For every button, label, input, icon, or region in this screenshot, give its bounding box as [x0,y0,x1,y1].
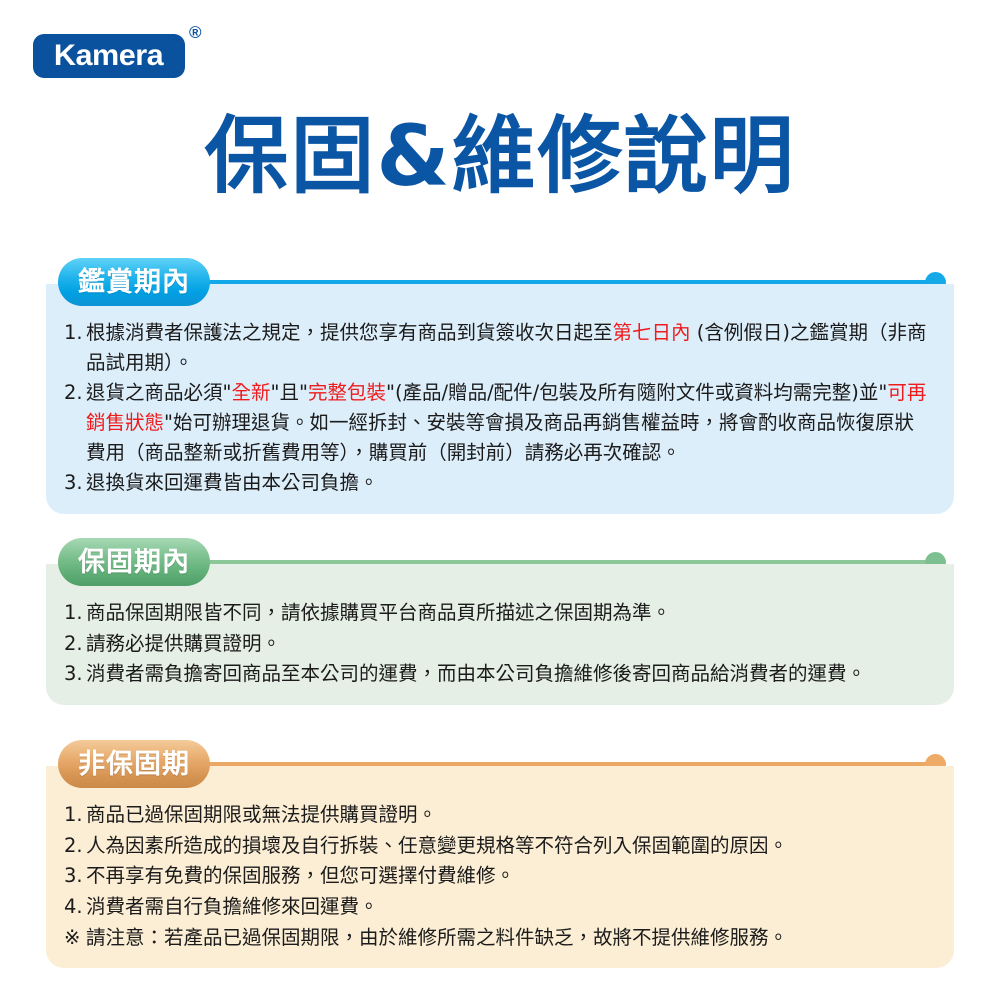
highlighted-text: 全新 [231,381,270,404]
highlighted-text: 完整包裝 [308,381,386,404]
list-item-text: 商品保固期限皆不同，請依據購買平台商品頁所描述之保固期為準。 [86,601,671,624]
section-inspection-period: 鑑賞期內 1.根據消費者保護法之規定，提供您享有商品到貨簽收次日起至第七日內 (… [46,258,954,514]
section-out-of-warranty: 非保固期 1.商品已過保固期限或無法提供購買證明。2.人為因素所造成的損壞及自行… [46,740,954,968]
section-body: 1.商品已過保固期限或無法提供購買證明。2.人為因素所造成的損壞及自行拆裝、任意… [46,766,954,968]
list-item: 1.商品已過保固期限或無法提供購買證明。 [64,800,928,830]
list-item-marker: 3. [64,861,86,891]
brand-logo: Kamera ® [33,24,253,84]
list-item: 3.退換貨來回運費皆由本公司負擔。 [64,468,928,498]
section-title-pill: 鑑賞期內 [58,258,210,306]
list-item-text: 請注意：若產品已過保固期限，由於維修所需之料件缺乏，故將不提供維修服務。 [86,926,788,949]
list-item-marker: 4. [64,892,86,922]
section-title-pill: 保固期內 [58,538,210,586]
list-item-marker: 2. [64,831,86,861]
list-item: 4.消費者需自行負擔維修來回運費。 [64,892,928,922]
list-item-marker: 1. [64,800,86,830]
section-body: 1.根據消費者保護法之規定，提供您享有商品到貨簽收次日起至第七日內 (含例假日)… [46,284,954,514]
list-item-marker: ※ [64,923,86,953]
list-item-text: 商品已過保固期限或無法提供購買證明。 [86,803,437,826]
list-item: 2.人為因素所造成的損壞及自行拆裝、任意變更規格等不符合列入保固範圍的原因。 [64,831,928,861]
list-item: ※請注意：若產品已過保固期限，由於維修所需之料件缺乏，故將不提供維修服務。 [64,923,928,953]
list-item-marker: 1. [64,598,86,628]
list-item-text: 根據消費者保護法之規定，提供您享有商品到貨簽收次日起至 [86,321,613,344]
list-item-text: 消費者需負擔寄回商品至本公司的運費，而由本公司負擔維修後寄回商品給消費者的運費。 [86,662,866,685]
list-item-marker: 2. [64,378,86,408]
list-item-text: 退換貨來回運費皆由本公司負擔。 [86,471,379,494]
section-title-label: 鑑賞期內 [78,269,190,296]
logo-wordmark: Kamera [54,41,163,71]
list-item: 2.請務必提供購買證明。 [64,629,928,659]
list-item-text: 不再享有免費的保固服務，但您可選擇付費維修。 [86,864,515,887]
section-warranty-period: 保固期內 1.商品保固期限皆不同，請依據購買平台商品頁所描述之保固期為準。2.請… [46,538,954,705]
registered-trademark-icon: ® [189,24,202,41]
list-item: 1.根據消費者保護法之規定，提供您享有商品到貨簽收次日起至第七日內 (含例假日)… [64,318,928,377]
list-item-text: "(產品/贈品/配件/包裝及所有隨附文件或資料均需完整)並" [386,381,887,404]
list-item: 3.不再享有免費的保固服務，但您可選擇付費維修。 [64,861,928,891]
list-item-text: "且" [271,381,308,404]
list-item-marker: 1. [64,318,86,348]
section-title-label: 保固期內 [78,549,190,576]
list-item: 3.消費者需負擔寄回商品至本公司的運費，而由本公司負擔維修後寄回商品給消費者的運… [64,659,928,689]
list-item-text: 消費者需自行負擔維修來回運費。 [86,895,379,918]
logo-badge: Kamera [33,34,185,78]
list-item-marker: 3. [64,659,86,689]
list-item-text: 請務必提供購買證明。 [86,632,281,655]
section-title-pill: 非保固期 [58,740,210,788]
list-item-text: 退貨之商品必須" [86,381,231,404]
list-item: 1.商品保固期限皆不同，請依據購買平台商品頁所描述之保固期為準。 [64,598,928,628]
list-item-text: 人為因素所造成的損壞及自行拆裝、任意變更規格等不符合列入保固範圍的原因。 [86,834,788,857]
section-title-label: 非保固期 [78,751,190,778]
highlighted-text: 第七日內 [613,321,691,344]
list-item-marker: 2. [64,629,86,659]
page-title: 保固&維修說明 [0,112,1000,200]
list-item-text: "始可辦理退貨。如一經拆封、安裝等會損及商品再銷售權益時，將會酌收商品恢復原狀費… [86,411,914,464]
list-item: 2.退貨之商品必須"全新"且"完整包裝"(產品/贈品/配件/包裝及所有隨附文件或… [64,378,928,467]
list-item-marker: 3. [64,468,86,498]
